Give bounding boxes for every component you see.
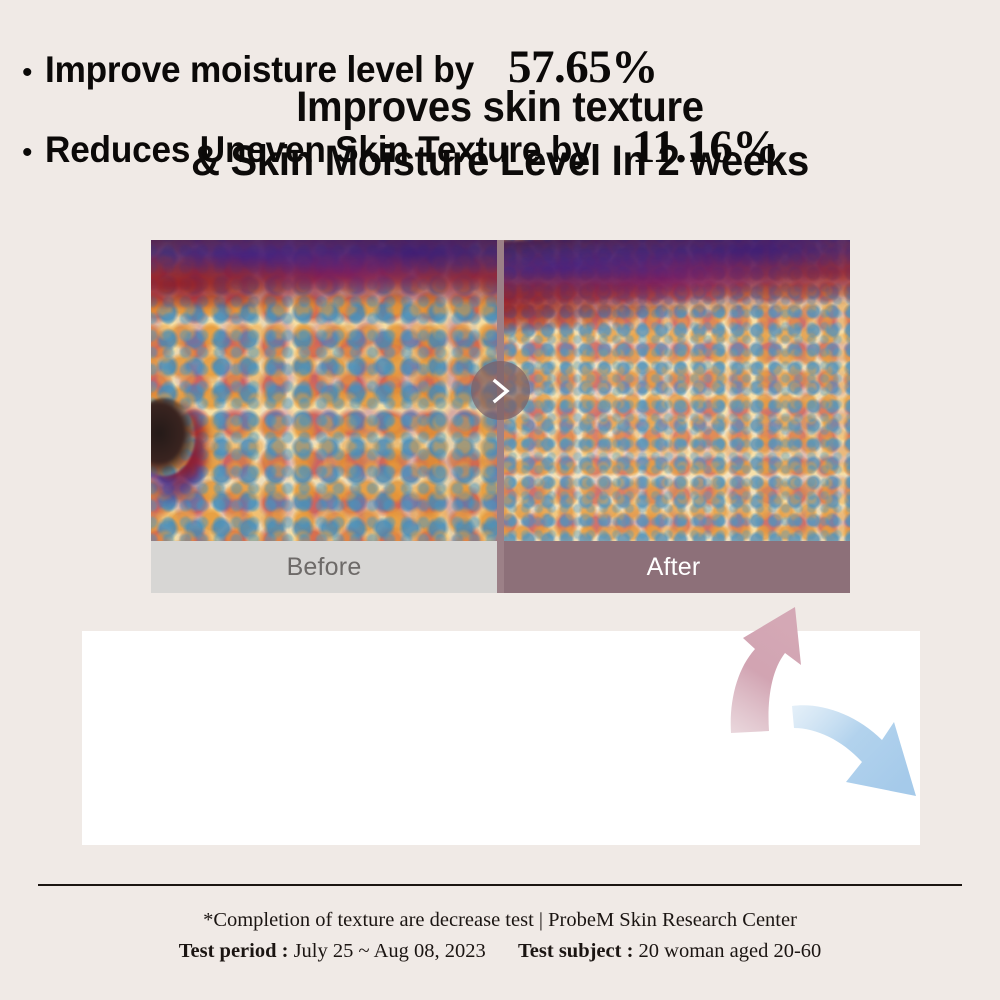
skin-top-band <box>151 240 497 308</box>
chevron-right-icon[interactable] <box>471 361 530 420</box>
claims-card <box>82 631 920 845</box>
claim-value: 57.65% <box>508 40 658 94</box>
claim-item: • Improve moisture level by 57.65% <box>22 40 838 94</box>
test-subject-value: 20 woman aged 20-60 <box>639 940 822 962</box>
after-caption: After <box>497 541 850 593</box>
claims-list: • Improve moisture level by 57.65% • Red… <box>22 0 838 214</box>
before-after-comparison: Before After <box>151 240 850 593</box>
footnote: *Completion of texture are decrease test… <box>0 905 1000 967</box>
before-photo <box>151 240 497 541</box>
bullet-marker: • <box>22 58 33 88</box>
before-caption: Before <box>151 541 497 593</box>
test-subject-label: Test subject : <box>518 940 633 962</box>
bullet-marker: • <box>22 138 33 168</box>
test-period-value: July 25 ~ Aug 08, 2023 <box>294 940 486 962</box>
claim-value: 11.16% <box>632 120 779 174</box>
footer-divider <box>38 884 962 886</box>
footnote-details: Test period : July 25 ~ Aug 08, 2023 Tes… <box>0 936 1000 967</box>
footnote-source: *Completion of texture are decrease test… <box>0 905 1000 936</box>
test-period-label: Test period : <box>179 940 289 962</box>
after-photo <box>497 240 850 541</box>
claim-item: • Reduces Uneven Skin Texture by 11.16% <box>22 120 838 174</box>
claim-text: Reduces Uneven Skin Texture by <box>45 129 591 171</box>
claim-text: Improve moisture level by <box>45 49 474 91</box>
